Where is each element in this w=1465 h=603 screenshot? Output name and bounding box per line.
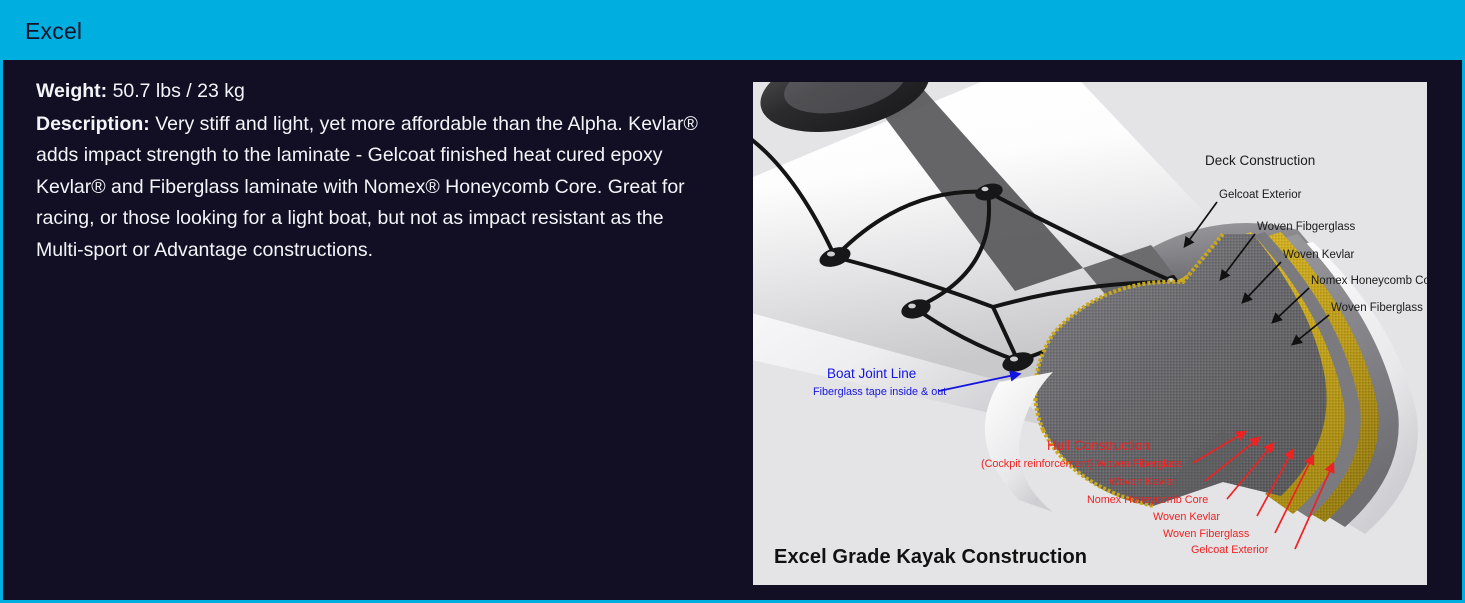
hull-label-4: Woven Fiberglass bbox=[1163, 528, 1250, 540]
deck-label-0: Gelcoat Exterior bbox=[1219, 189, 1302, 201]
app-window: Excel Weight: 50.7 lbs / 23 kg Descripti… bbox=[0, 0, 1465, 603]
product-info-panel: Weight: 50.7 lbs / 23 kg Description: Ve… bbox=[36, 76, 716, 266]
deck-label-2: Woven Kevlar bbox=[1283, 249, 1355, 261]
hull-label-2: Nomex Honeycomb Core bbox=[1087, 494, 1208, 506]
kayak-cutaway-illustration: Deck Construction Gelcoat Exterior Woven… bbox=[753, 82, 1427, 585]
joint-subtitle: Fiberglass tape inside & out bbox=[813, 386, 946, 398]
description-label: Description: bbox=[36, 113, 150, 135]
weight-label: Weight: bbox=[36, 80, 107, 102]
hull-label-0: (Cockpit reinforcement) Woven Fiberglass bbox=[981, 458, 1183, 470]
joint-heading: Boat Joint Line bbox=[827, 366, 916, 381]
hull-label-3: Woven Kevlar bbox=[1153, 511, 1220, 523]
diagram-caption: Excel Grade Kayak Construction bbox=[774, 546, 1087, 569]
page-title: Excel bbox=[25, 18, 82, 45]
weight-line: Weight: 50.7 lbs / 23 kg bbox=[36, 76, 716, 108]
deck-label-4: Woven Fiberglass bbox=[1331, 302, 1423, 314]
weight-value: 50.7 lbs / 23 kg bbox=[113, 80, 245, 102]
hull-label-5: Gelcoat Exterior bbox=[1191, 544, 1269, 556]
description-line: Description: Very stiff and light, yet m… bbox=[36, 109, 716, 267]
header-bar: Excel bbox=[3, 3, 1462, 60]
hull-heading: Hull Construction bbox=[1047, 438, 1150, 453]
deck-label-3: Nomex Honeycomb Core bbox=[1311, 275, 1427, 287]
deck-label-1: Woven Fibgerglass bbox=[1257, 221, 1355, 233]
deck-heading: Deck Construction bbox=[1205, 153, 1315, 168]
construction-diagram-panel: Deck Construction Gelcoat Exterior Woven… bbox=[753, 82, 1427, 585]
hull-label-1: Woven Kevlar bbox=[1109, 476, 1176, 488]
